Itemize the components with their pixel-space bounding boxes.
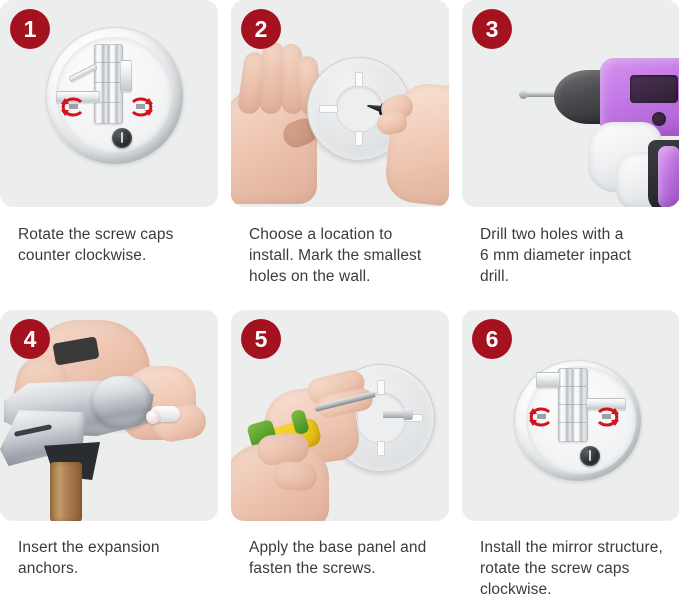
step-5-badge: 5 bbox=[241, 319, 281, 359]
step-2: 2 Choose a location to install. Mark the… bbox=[231, 0, 449, 310]
fixture-bracket-icon bbox=[536, 372, 560, 388]
step-2-caption: Choose a location to install. Mark the s… bbox=[249, 224, 445, 287]
step-6-image-card: 6 bbox=[462, 310, 679, 521]
step-4-caption: Insert the expansion anchors. bbox=[18, 537, 214, 579]
fixture-seam-icon bbox=[558, 422, 586, 423]
rotate-counter-clockwise-arrow-icon bbox=[126, 94, 156, 120]
drill-bit-tip-icon bbox=[519, 90, 528, 99]
drill-grip-accent-icon bbox=[658, 146, 679, 207]
step-2-badge: 2 bbox=[241, 9, 281, 49]
step-3-badge: 3 bbox=[472, 9, 512, 49]
finger-icon bbox=[272, 460, 318, 491]
panel-tab-icon bbox=[377, 380, 385, 395]
panel-tab-icon bbox=[355, 72, 363, 87]
step-5-caption: Apply the base panel and fasten the scre… bbox=[249, 537, 445, 579]
step-1-badge: 1 bbox=[10, 9, 50, 49]
step-5-image-card: 5 bbox=[231, 310, 449, 521]
panel-tab-icon bbox=[319, 105, 338, 113]
step-6: 6 Install the mirror structure, rotate t… bbox=[462, 310, 679, 604]
drill-button-icon bbox=[652, 112, 666, 126]
step-3: 3 Drill two holes with a 6 mm diameter i… bbox=[462, 0, 679, 310]
fixture-seam-icon bbox=[94, 62, 121, 63]
panel-tab-icon bbox=[377, 441, 385, 456]
expansion-anchor-head-icon bbox=[146, 410, 160, 424]
fixture-seam-icon bbox=[94, 82, 121, 83]
panel-tab-icon bbox=[355, 131, 363, 146]
step-4: 4 Insert the expansion anchors. bbox=[0, 310, 218, 604]
rotate-clockwise-arrow-icon bbox=[592, 404, 622, 430]
step-4-badge: 4 bbox=[10, 319, 50, 359]
step-1: 1 Rotate the screw caps counter clockwis… bbox=[0, 0, 218, 310]
step-6-badge: 6 bbox=[472, 319, 512, 359]
hammer-handle-icon bbox=[50, 462, 82, 521]
step-6-caption: Install the mirror structure, rotate the… bbox=[480, 537, 676, 600]
step-1-caption: Rotate the screw caps counter clockwise. bbox=[18, 224, 214, 266]
step-2-image-card: 2 bbox=[231, 0, 449, 207]
fixture-seam-icon bbox=[558, 386, 586, 387]
step-4-image-card: 4 bbox=[0, 310, 218, 521]
fixture-right-cap-icon bbox=[120, 60, 132, 92]
screw-head-icon bbox=[403, 408, 413, 420]
steps-grid: 1 Rotate the screw caps counter clockwis… bbox=[0, 0, 679, 604]
rotate-counter-clockwise-arrow-icon bbox=[58, 94, 88, 120]
fixture-seam-icon bbox=[558, 404, 586, 405]
power-indicator-icon bbox=[112, 128, 132, 148]
drill-display-window-icon bbox=[630, 75, 678, 103]
rotate-clockwise-arrow-icon bbox=[526, 404, 556, 430]
power-indicator-icon bbox=[580, 446, 600, 466]
step-3-caption: Drill two holes with a 6 mm diameter inp… bbox=[480, 224, 676, 287]
instruction-sheet: 1 Rotate the screw caps counter clockwis… bbox=[0, 0, 679, 604]
hammer-eye-icon bbox=[92, 376, 152, 428]
step-3-image-card: 3 bbox=[462, 0, 679, 207]
step-5: 5 Apply the base panel and fasten the sc… bbox=[231, 310, 449, 604]
step-1-image-card: 1 bbox=[0, 0, 218, 207]
